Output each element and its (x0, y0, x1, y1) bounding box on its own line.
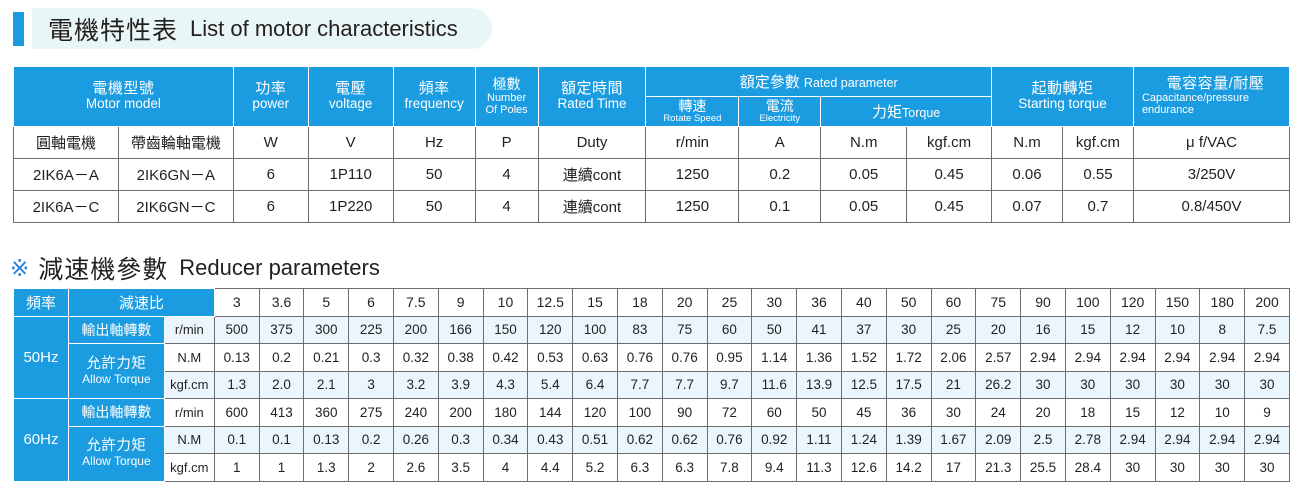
th-torque: 力矩Torque (821, 97, 992, 127)
cell: 1.36 (797, 344, 842, 372)
th-power: 功率 power (233, 67, 308, 127)
cell: 0.76 (707, 426, 752, 454)
th-rated-parameter-en: Rated parameter (804, 76, 898, 90)
cell: 3.2 (393, 371, 438, 399)
cell: 300 (304, 316, 349, 344)
table1-unit-row: 圓軸電機 帶齒輪軸電機 W V Hz P Duty r/min A N.m kg… (14, 127, 1290, 159)
cell: 413 (259, 399, 304, 427)
cell: 0.45 (907, 159, 992, 191)
cell: 4 (475, 191, 538, 223)
th-motor-model-cn: 電機型號 (14, 81, 233, 97)
th-frequency: 頻率 (14, 289, 69, 317)
th-capacitance-cn: 電容容量/耐壓 (1142, 76, 1289, 92)
cell: 11.6 (752, 371, 797, 399)
cell: 0.8/450V (1133, 191, 1289, 223)
cell: 25 (931, 316, 976, 344)
cell: 連續cont (538, 159, 646, 191)
th-rated-time: 額定時間 Rated Time (538, 67, 646, 127)
cell: 4.3 (483, 371, 528, 399)
table-row: 允許力矩Allow TorqueN.M0.130.20.210.30.320.3… (14, 344, 1290, 372)
cell: 0.1 (739, 191, 821, 223)
cell: 2.94 (1155, 426, 1200, 454)
cell: 72 (707, 399, 752, 427)
cell: 2.94 (1021, 344, 1066, 372)
cell: 7.7 (662, 371, 707, 399)
cell: 10 (1155, 316, 1200, 344)
cell: 9 (1245, 399, 1290, 427)
ratio-header-9: 18 (617, 289, 662, 317)
th-electricity: 電流 Electricity (739, 97, 821, 127)
cell: 16 (1021, 316, 1066, 344)
ratio-header-20: 120 (1110, 289, 1155, 317)
cell: 150 (483, 316, 528, 344)
th-motor-model: 電機型號 Motor model (14, 67, 234, 127)
th-rated-time-cn: 額定時間 (539, 81, 646, 97)
asterisk-icon: ※ (10, 257, 29, 280)
cell: 7.8 (707, 454, 752, 482)
cell: 6.4 (573, 371, 618, 399)
unit-cell: kgf.cm (164, 454, 214, 482)
cell: 0.62 (662, 426, 707, 454)
cell: 7.7 (617, 371, 662, 399)
ratio-header-22: 180 (1200, 289, 1245, 317)
th-frequency-en: frequency (394, 97, 475, 112)
cell: 連續cont (538, 191, 646, 223)
cell: 36 (886, 399, 931, 427)
cell: 2.1 (304, 371, 349, 399)
row-label-allow-torque: 允許力矩Allow Torque (68, 426, 164, 481)
cell: 15 (1110, 399, 1155, 427)
cell: 5.2 (573, 454, 618, 482)
cell: 2.0 (259, 371, 304, 399)
cell: 24 (976, 399, 1021, 427)
section1-title-en: List of motor characteristics (190, 16, 458, 42)
cell: 30 (931, 399, 976, 427)
cell: 225 (349, 316, 394, 344)
ratio-header-16: 60 (931, 289, 976, 317)
th-torque-cn: 力矩 (872, 104, 902, 121)
cell: 12.5 (841, 371, 886, 399)
cell: 28.4 (1065, 454, 1110, 482)
unit-cell: kgf.cm (1062, 127, 1133, 159)
cell: 21 (931, 371, 976, 399)
cell: 90 (662, 399, 707, 427)
cell: 9.7 (707, 371, 752, 399)
unit-cell: W (233, 127, 308, 159)
cell: 2.94 (1200, 426, 1245, 454)
cell: 2.06 (931, 344, 976, 372)
section2-title-cn: 減速機參數 (38, 250, 168, 286)
cell: 18 (1065, 399, 1110, 427)
cell: 1.72 (886, 344, 931, 372)
th-power-en: power (234, 97, 308, 112)
cell: 14.2 (886, 454, 931, 482)
cell: 1P220 (308, 191, 393, 223)
cell: 75 (662, 316, 707, 344)
cell: 240 (393, 399, 438, 427)
unit-cell: 圓軸電機 (14, 127, 119, 159)
cell: 0.05 (821, 191, 907, 223)
table-row: kgf.cm111.322.63.544.45.26.36.37.89.411.… (14, 454, 1290, 482)
th-poles-en1: Number (476, 92, 538, 104)
ratio-header-11: 25 (707, 289, 752, 317)
ratio-header-15: 50 (886, 289, 931, 317)
cell: 4 (475, 159, 538, 191)
cell: 0.51 (573, 426, 618, 454)
cell: 30 (1110, 454, 1155, 482)
cell: 120 (528, 316, 573, 344)
th-voltage-en: voltage (309, 97, 393, 112)
cell: 0.7 (1062, 191, 1133, 223)
cell: 60 (752, 399, 797, 427)
cell: 1250 (646, 159, 739, 191)
cell: 10 (1200, 399, 1245, 427)
cell: 0.55 (1062, 159, 1133, 191)
ratio-header-8: 15 (573, 289, 618, 317)
th-torque-en: Torque (902, 106, 940, 120)
table-row: 允許力矩Allow TorqueN.M0.10.10.130.20.260.30… (14, 426, 1290, 454)
unit-cell: r/min (164, 316, 214, 344)
cell: 0.95 (707, 344, 752, 372)
cell: 30 (886, 316, 931, 344)
cell: 30 (1245, 371, 1290, 399)
table1-header-row-1: 電機型號 Motor model 功率 power 電壓 voltage 頻率 … (14, 67, 1290, 97)
ratio-header-18: 90 (1021, 289, 1066, 317)
table-row: 2IK6A－C 2IK6GN－C 6 1P220 50 4 連續cont 125… (14, 191, 1290, 223)
cell: 0.2 (739, 159, 821, 191)
cell: 275 (349, 399, 394, 427)
cell: 6.3 (617, 454, 662, 482)
ratio-header-19: 100 (1065, 289, 1110, 317)
cell: 17.5 (886, 371, 931, 399)
cell: 0.2 (259, 344, 304, 372)
cell: 2.94 (1200, 344, 1245, 372)
cell: 11.3 (797, 454, 842, 482)
cell: 1.3 (214, 371, 259, 399)
cell: 4.4 (528, 454, 573, 482)
section-title-reducer: ※ 減速機參數 Reducer parameters (10, 250, 380, 286)
cell: 2IK6A－C (14, 191, 119, 223)
th-motor-model-en: Motor model (14, 97, 233, 112)
cell: 0.3 (349, 344, 394, 372)
cell: 30 (1110, 371, 1155, 399)
cell: 3 (349, 371, 394, 399)
freq-label-60Hz: 60Hz (14, 399, 69, 482)
unit-cell: A (739, 127, 821, 159)
row-label-output-speed: 輸出軸轉數 (68, 316, 164, 344)
th-voltage: 電壓 voltage (308, 67, 393, 127)
cell: 1.11 (797, 426, 842, 454)
cell: 0.42 (483, 344, 528, 372)
th-electricity-cn: 電流 (739, 99, 820, 114)
cell: 1.52 (841, 344, 886, 372)
ratio-header-13: 36 (797, 289, 842, 317)
ratio-header-5: 9 (438, 289, 483, 317)
cell: 0.43 (528, 426, 573, 454)
th-power-cn: 功率 (234, 81, 308, 97)
cell: 6 (233, 159, 308, 191)
cell: 0.32 (393, 344, 438, 372)
unit-cell: 帶齒輪軸電機 (118, 127, 233, 159)
unit-cell: Hz (393, 127, 475, 159)
ratio-header-10: 20 (662, 289, 707, 317)
unit-cell: Duty (538, 127, 646, 159)
cell: 6.3 (662, 454, 707, 482)
cell: 2.94 (1110, 426, 1155, 454)
cell: 5.4 (528, 371, 573, 399)
cell: 30 (1155, 371, 1200, 399)
cell: 1 (214, 454, 259, 482)
cell: 100 (573, 316, 618, 344)
unit-cell: N.M (164, 426, 214, 454)
th-voltage-cn: 電壓 (309, 81, 393, 97)
cell: 1 (259, 454, 304, 482)
cell: 25.5 (1021, 454, 1066, 482)
unit-cell: kgf.cm (907, 127, 992, 159)
cell: 12 (1155, 399, 1200, 427)
cell: 2 (349, 454, 394, 482)
table-row: 2IK6A－A 2IK6GN－A 6 1P110 50 4 連續cont 125… (14, 159, 1290, 191)
section1-title-cn: 電機特性表 (48, 11, 178, 47)
th-poles-cn: 極數 (476, 77, 538, 92)
ratio-header-1: 3.6 (259, 289, 304, 317)
ratio-header-14: 40 (841, 289, 886, 317)
th-starting-torque: 起動轉矩 Starting torque (992, 67, 1134, 127)
unit-cell: μ f/VAC (1133, 127, 1289, 159)
th-ratio: 減速比 (68, 289, 214, 317)
cell: 15 (1065, 316, 1110, 344)
table-row: 60Hz輸出軸轉數r/min60041336027524020018014412… (14, 399, 1290, 427)
cell: 1.39 (886, 426, 931, 454)
cell: 50 (393, 159, 475, 191)
motor-spec-sheet: 電機特性表 List of motor characteristics 電機型號… (0, 0, 1303, 503)
ratio-header-7: 12.5 (528, 289, 573, 317)
cell: 50 (393, 191, 475, 223)
cell: 1P110 (308, 159, 393, 191)
cell: 30 (1021, 371, 1066, 399)
cell: 0.45 (907, 191, 992, 223)
cell: 41 (797, 316, 842, 344)
th-rotate-speed-en: Rotate Speed (646, 114, 738, 124)
cell: 2.94 (1110, 344, 1155, 372)
cell: 0.13 (304, 426, 349, 454)
cell: 26.2 (976, 371, 1021, 399)
ratio-header-2: 5 (304, 289, 349, 317)
section2-title-en: Reducer parameters (179, 255, 380, 281)
cell: 3/250V (1133, 159, 1289, 191)
th-frequency: 頻率 frequency (393, 67, 475, 127)
cell: 2.94 (1245, 344, 1290, 372)
cell: 12 (1110, 316, 1155, 344)
ratio-header-4: 7.5 (393, 289, 438, 317)
cell: 1.67 (931, 426, 976, 454)
cell: 83 (617, 316, 662, 344)
cell: 375 (259, 316, 304, 344)
cell: 17 (931, 454, 976, 482)
cell: 200 (393, 316, 438, 344)
cell: 50 (752, 316, 797, 344)
cell: 0.21 (304, 344, 349, 372)
cell: 0.05 (821, 159, 907, 191)
unit-cell: kgf.cm (164, 371, 214, 399)
th-rated-parameter-cn: 額定參數 (740, 74, 800, 91)
cell: 45 (841, 399, 886, 427)
cell: 30 (1155, 454, 1200, 482)
cell: 3.5 (438, 454, 483, 482)
th-starting-torque-cn: 起動轉矩 (992, 81, 1133, 97)
motor-characteristics-table: 電機型號 Motor model 功率 power 電壓 voltage 頻率 … (13, 66, 1290, 223)
cell: 144 (528, 399, 573, 427)
unit-cell: N.m (992, 127, 1063, 159)
cell: 1250 (646, 191, 739, 223)
cell: 600 (214, 399, 259, 427)
th-starting-torque-en: Starting torque (992, 97, 1133, 112)
cell: 120 (573, 399, 618, 427)
cell: 100 (617, 399, 662, 427)
th-poles: 極數 Number Of Poles (475, 67, 538, 127)
cell: 30 (1200, 454, 1245, 482)
cell: 0.62 (617, 426, 662, 454)
cell: 0.63 (573, 344, 618, 372)
th-rated-time-en: Rated Time (539, 97, 646, 112)
row-label-allow-torque: 允許力矩Allow Torque (68, 344, 164, 399)
cell: 500 (214, 316, 259, 344)
title-accent-bar (13, 12, 24, 46)
cell: 0.2 (349, 426, 394, 454)
reducer-header-row: 頻率減速比33.6567.591012.51518202530364050607… (14, 289, 1290, 317)
ratio-header-12: 30 (752, 289, 797, 317)
cell: 0.92 (752, 426, 797, 454)
th-poles-en2: Of Poles (476, 104, 538, 116)
cell: 2IK6A－A (14, 159, 119, 191)
unit-cell: P (475, 127, 538, 159)
cell: 0.34 (483, 426, 528, 454)
cell: 21.3 (976, 454, 1021, 482)
ratio-header-17: 75 (976, 289, 1021, 317)
th-frequency-cn: 頻率 (394, 81, 475, 97)
th-capacitance-en1: Capacitance/pressure (1142, 92, 1289, 104)
cell: 50 (797, 399, 842, 427)
section-title-motor: 電機特性表 List of motor characteristics (13, 8, 492, 49)
cell: 2.09 (976, 426, 1021, 454)
cell: 30 (1245, 454, 1290, 482)
cell: 2.94 (1245, 426, 1290, 454)
unit-cell: r/min (646, 127, 739, 159)
th-capacitance: 電容容量/耐壓 Capacitance/pressure endurance (1133, 67, 1289, 127)
th-rated-parameter: 額定參數 Rated parameter (646, 67, 992, 97)
ratio-header-6: 10 (483, 289, 528, 317)
cell: 0.53 (528, 344, 573, 372)
cell: 20 (976, 316, 1021, 344)
cell: 0.76 (662, 344, 707, 372)
th-rotate-speed: 轉速 Rotate Speed (646, 97, 739, 127)
cell: 1.24 (841, 426, 886, 454)
cell: 12.6 (841, 454, 886, 482)
cell: 0.1 (214, 426, 259, 454)
cell: 30 (1200, 371, 1245, 399)
cell: 2IK6GN－C (118, 191, 233, 223)
table-row: 50Hz輸出軸轉數r/min50037530022520016615012010… (14, 316, 1290, 344)
ratio-header-21: 150 (1155, 289, 1200, 317)
freq-label-50Hz: 50Hz (14, 316, 69, 399)
cell: 0.76 (617, 344, 662, 372)
cell: 8 (1200, 316, 1245, 344)
row-label-output-speed: 輸出軸轉數 (68, 399, 164, 427)
cell: 2IK6GN－A (118, 159, 233, 191)
cell: 2.6 (393, 454, 438, 482)
cell: 1.14 (752, 344, 797, 372)
cell: 7.5 (1245, 316, 1290, 344)
cell: 60 (707, 316, 752, 344)
cell: 180 (483, 399, 528, 427)
cell: 2.5 (1021, 426, 1066, 454)
cell: 0.38 (438, 344, 483, 372)
unit-cell: N.M (164, 344, 214, 372)
cell: 2.78 (1065, 426, 1110, 454)
reducer-parameters-table: 頻率減速比33.6567.591012.51518202530364050607… (13, 288, 1290, 482)
table-row: kgf.cm1.32.02.133.23.94.35.46.47.77.79.7… (14, 371, 1290, 399)
cell: 13.9 (797, 371, 842, 399)
cell: 30 (1065, 371, 1110, 399)
cell: 0.1 (259, 426, 304, 454)
cell: 0.26 (393, 426, 438, 454)
cell: 0.13 (214, 344, 259, 372)
th-rotate-speed-cn: 轉速 (646, 99, 738, 114)
cell: 0.07 (992, 191, 1063, 223)
cell: 360 (304, 399, 349, 427)
cell: 0.3 (438, 426, 483, 454)
th-capacitance-en2: endurance (1142, 104, 1289, 116)
ratio-header-3: 6 (349, 289, 394, 317)
cell: 1.3 (304, 454, 349, 482)
cell: 37 (841, 316, 886, 344)
cell: 166 (438, 316, 483, 344)
th-electricity-en: Electricity (739, 114, 820, 124)
cell: 2.94 (1065, 344, 1110, 372)
cell: 9.4 (752, 454, 797, 482)
cell: 200 (438, 399, 483, 427)
cell: 0.06 (992, 159, 1063, 191)
ratio-header-23: 200 (1245, 289, 1290, 317)
cell: 3.9 (438, 371, 483, 399)
title-pill: 電機特性表 List of motor characteristics (32, 8, 492, 49)
cell: 20 (1021, 399, 1066, 427)
cell: 6 (233, 191, 308, 223)
cell: 2.57 (976, 344, 1021, 372)
unit-cell: V (308, 127, 393, 159)
unit-cell: N.m (821, 127, 907, 159)
ratio-header-0: 3 (214, 289, 259, 317)
unit-cell: r/min (164, 399, 214, 427)
cell: 2.94 (1155, 344, 1200, 372)
cell: 4 (483, 454, 528, 482)
